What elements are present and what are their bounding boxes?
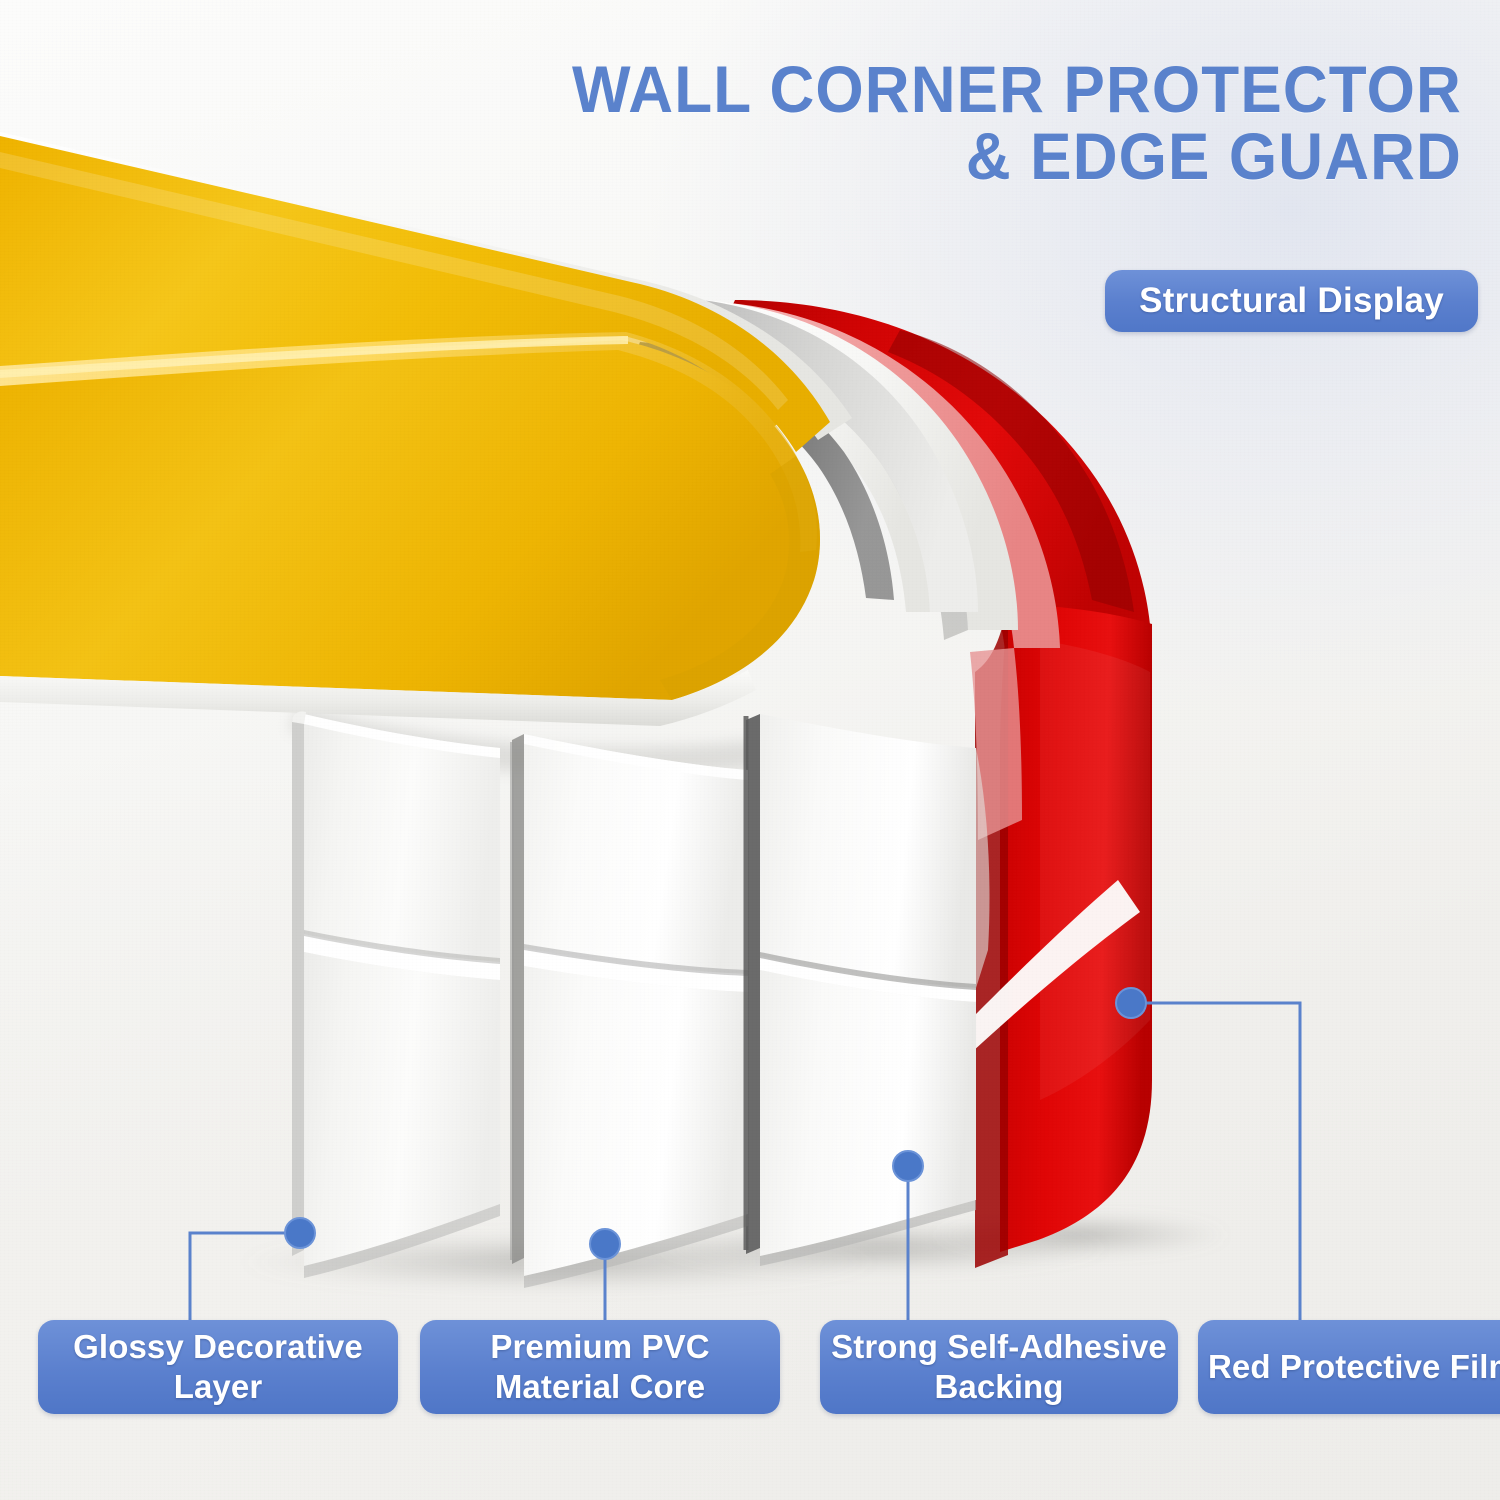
product-illustration <box>0 0 1500 1500</box>
callout-line-2: Layer <box>174 1368 263 1405</box>
page-title-line-1: WALL CORNER PROTECTOR <box>88 56 1462 123</box>
callout-glossy-decorative-layer-label: Glossy Decorative Layer <box>73 1327 363 1408</box>
structural-display-badge: Structural Display <box>1105 270 1478 332</box>
callout-red-protective-film-label: Red Protective Film <box>1208 1347 1500 1387</box>
callout-line-1: Red Protective Film <box>1208 1348 1500 1385</box>
product-infographic: WALL CORNER PROTECTOR & EDGE GUARD Struc… <box>0 0 1500 1500</box>
callout-line-2: Material Core <box>495 1368 705 1405</box>
page-title: WALL CORNER PROTECTOR & EDGE GUARD <box>0 56 1462 191</box>
callout-strong-self-adhesive-backing-label: Strong Self-Adhesive Backing <box>831 1327 1167 1408</box>
callout-line-2: Backing <box>934 1368 1063 1405</box>
callout-glossy-decorative-layer: Glossy Decorative Layer <box>38 1320 398 1414</box>
callout-premium-pvc-material-core-label: Premium PVC Material Core <box>490 1327 709 1408</box>
page-title-line-2: & EDGE GUARD <box>88 123 1462 190</box>
callout-line-1: Glossy Decorative <box>73 1328 363 1365</box>
structural-display-badge-label: Structural Display <box>1139 281 1444 321</box>
callout-premium-pvc-material-core: Premium PVC Material Core <box>420 1320 780 1414</box>
callout-red-protective-film: Red Protective Film <box>1198 1320 1500 1414</box>
callout-line-1: Strong Self-Adhesive <box>831 1328 1167 1365</box>
callout-line-1: Premium PVC <box>490 1328 709 1365</box>
callout-strong-self-adhesive-backing: Strong Self-Adhesive Backing <box>820 1320 1178 1414</box>
